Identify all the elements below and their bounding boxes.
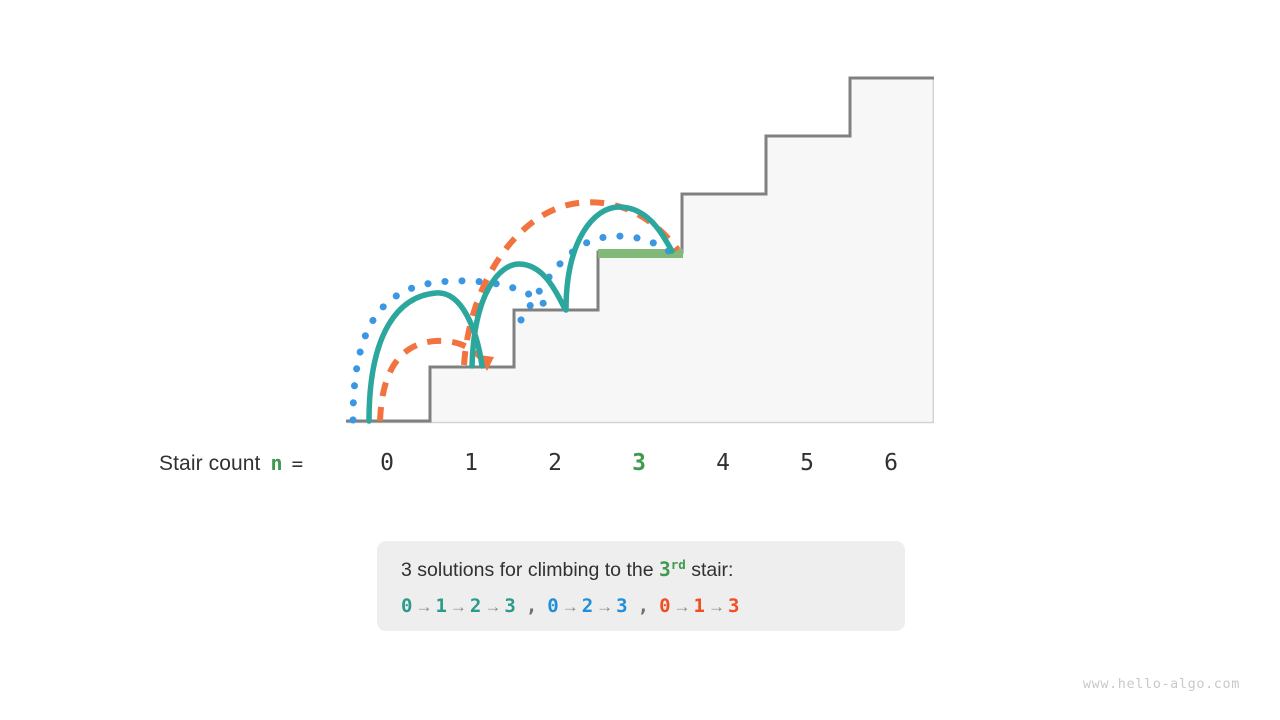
axis-tick-4: 4 (703, 446, 743, 480)
sequence-separator-2: , (638, 595, 649, 617)
seq-teal-node-3: 3 (504, 595, 515, 617)
seq-orange-node-1: 1 (694, 595, 705, 617)
watermark-url: www.hello-algo.com (1083, 676, 1240, 692)
seq-teal-arrow-2: → (484, 597, 501, 616)
seq-blue-node-1: 2 (582, 595, 593, 617)
seq-teal-node-0: 0 (401, 595, 412, 617)
caption-prefix: 3 solutions for climbing to the (401, 559, 659, 581)
sequence-teal: 0→1→2→3 (401, 595, 516, 617)
seq-blue-node-0: 0 (547, 595, 558, 617)
seq-teal-node-1: 1 (435, 595, 446, 617)
sequence-blue: 0→2→3 (547, 595, 627, 617)
axis-variable-n: n (271, 451, 283, 475)
caption-suffix: stair: (686, 559, 734, 581)
seq-blue-node-2: 3 (616, 595, 627, 617)
axis-tick-1: 1 (451, 446, 491, 480)
seq-orange-arrow-1: → (708, 597, 725, 616)
caption-box: 3 solutions for climbing to the 3rd stai… (377, 541, 905, 631)
seq-blue-arrow-1: → (596, 597, 613, 616)
axis-caption-text: Stair count (159, 452, 261, 475)
axis-tick-3: 3 (619, 446, 659, 480)
staircase-figure (0, 0, 1280, 500)
caption-sequences: 0→1→2→3,0→2→3,0→1→3 (401, 593, 905, 620)
seq-blue-arrow-0: → (562, 597, 579, 616)
seq-orange-node-0: 0 (659, 595, 670, 617)
axis-equals-sign: = (292, 453, 304, 475)
sequence-orange: 0→1→3 (659, 595, 739, 617)
caption-ordinal-suffix: rd (671, 557, 686, 572)
axis-tick-5: 5 (787, 446, 827, 480)
caption-ordinal-number: 3 (659, 558, 671, 581)
axis-caption: Stair countn= (159, 446, 303, 481)
axis-label-row: Stair countn= 0 1 2 3 4 5 6 (0, 446, 1280, 484)
seq-teal-arrow-0: → (415, 597, 432, 616)
seq-orange-arrow-0: → (674, 597, 691, 616)
seq-teal-arrow-1: → (450, 597, 467, 616)
seq-orange-node-2: 3 (728, 595, 739, 617)
caption-ordinal: 3rd (659, 558, 686, 581)
seq-teal-node-2: 2 (470, 595, 481, 617)
sequence-separator-1: , (526, 595, 537, 617)
axis-tick-0: 0 (367, 446, 407, 480)
axis-tick-2: 2 (535, 446, 575, 480)
axis-tick-6: 6 (871, 446, 911, 480)
caption-headline: 3 solutions for climbing to the 3rd stai… (401, 557, 905, 585)
